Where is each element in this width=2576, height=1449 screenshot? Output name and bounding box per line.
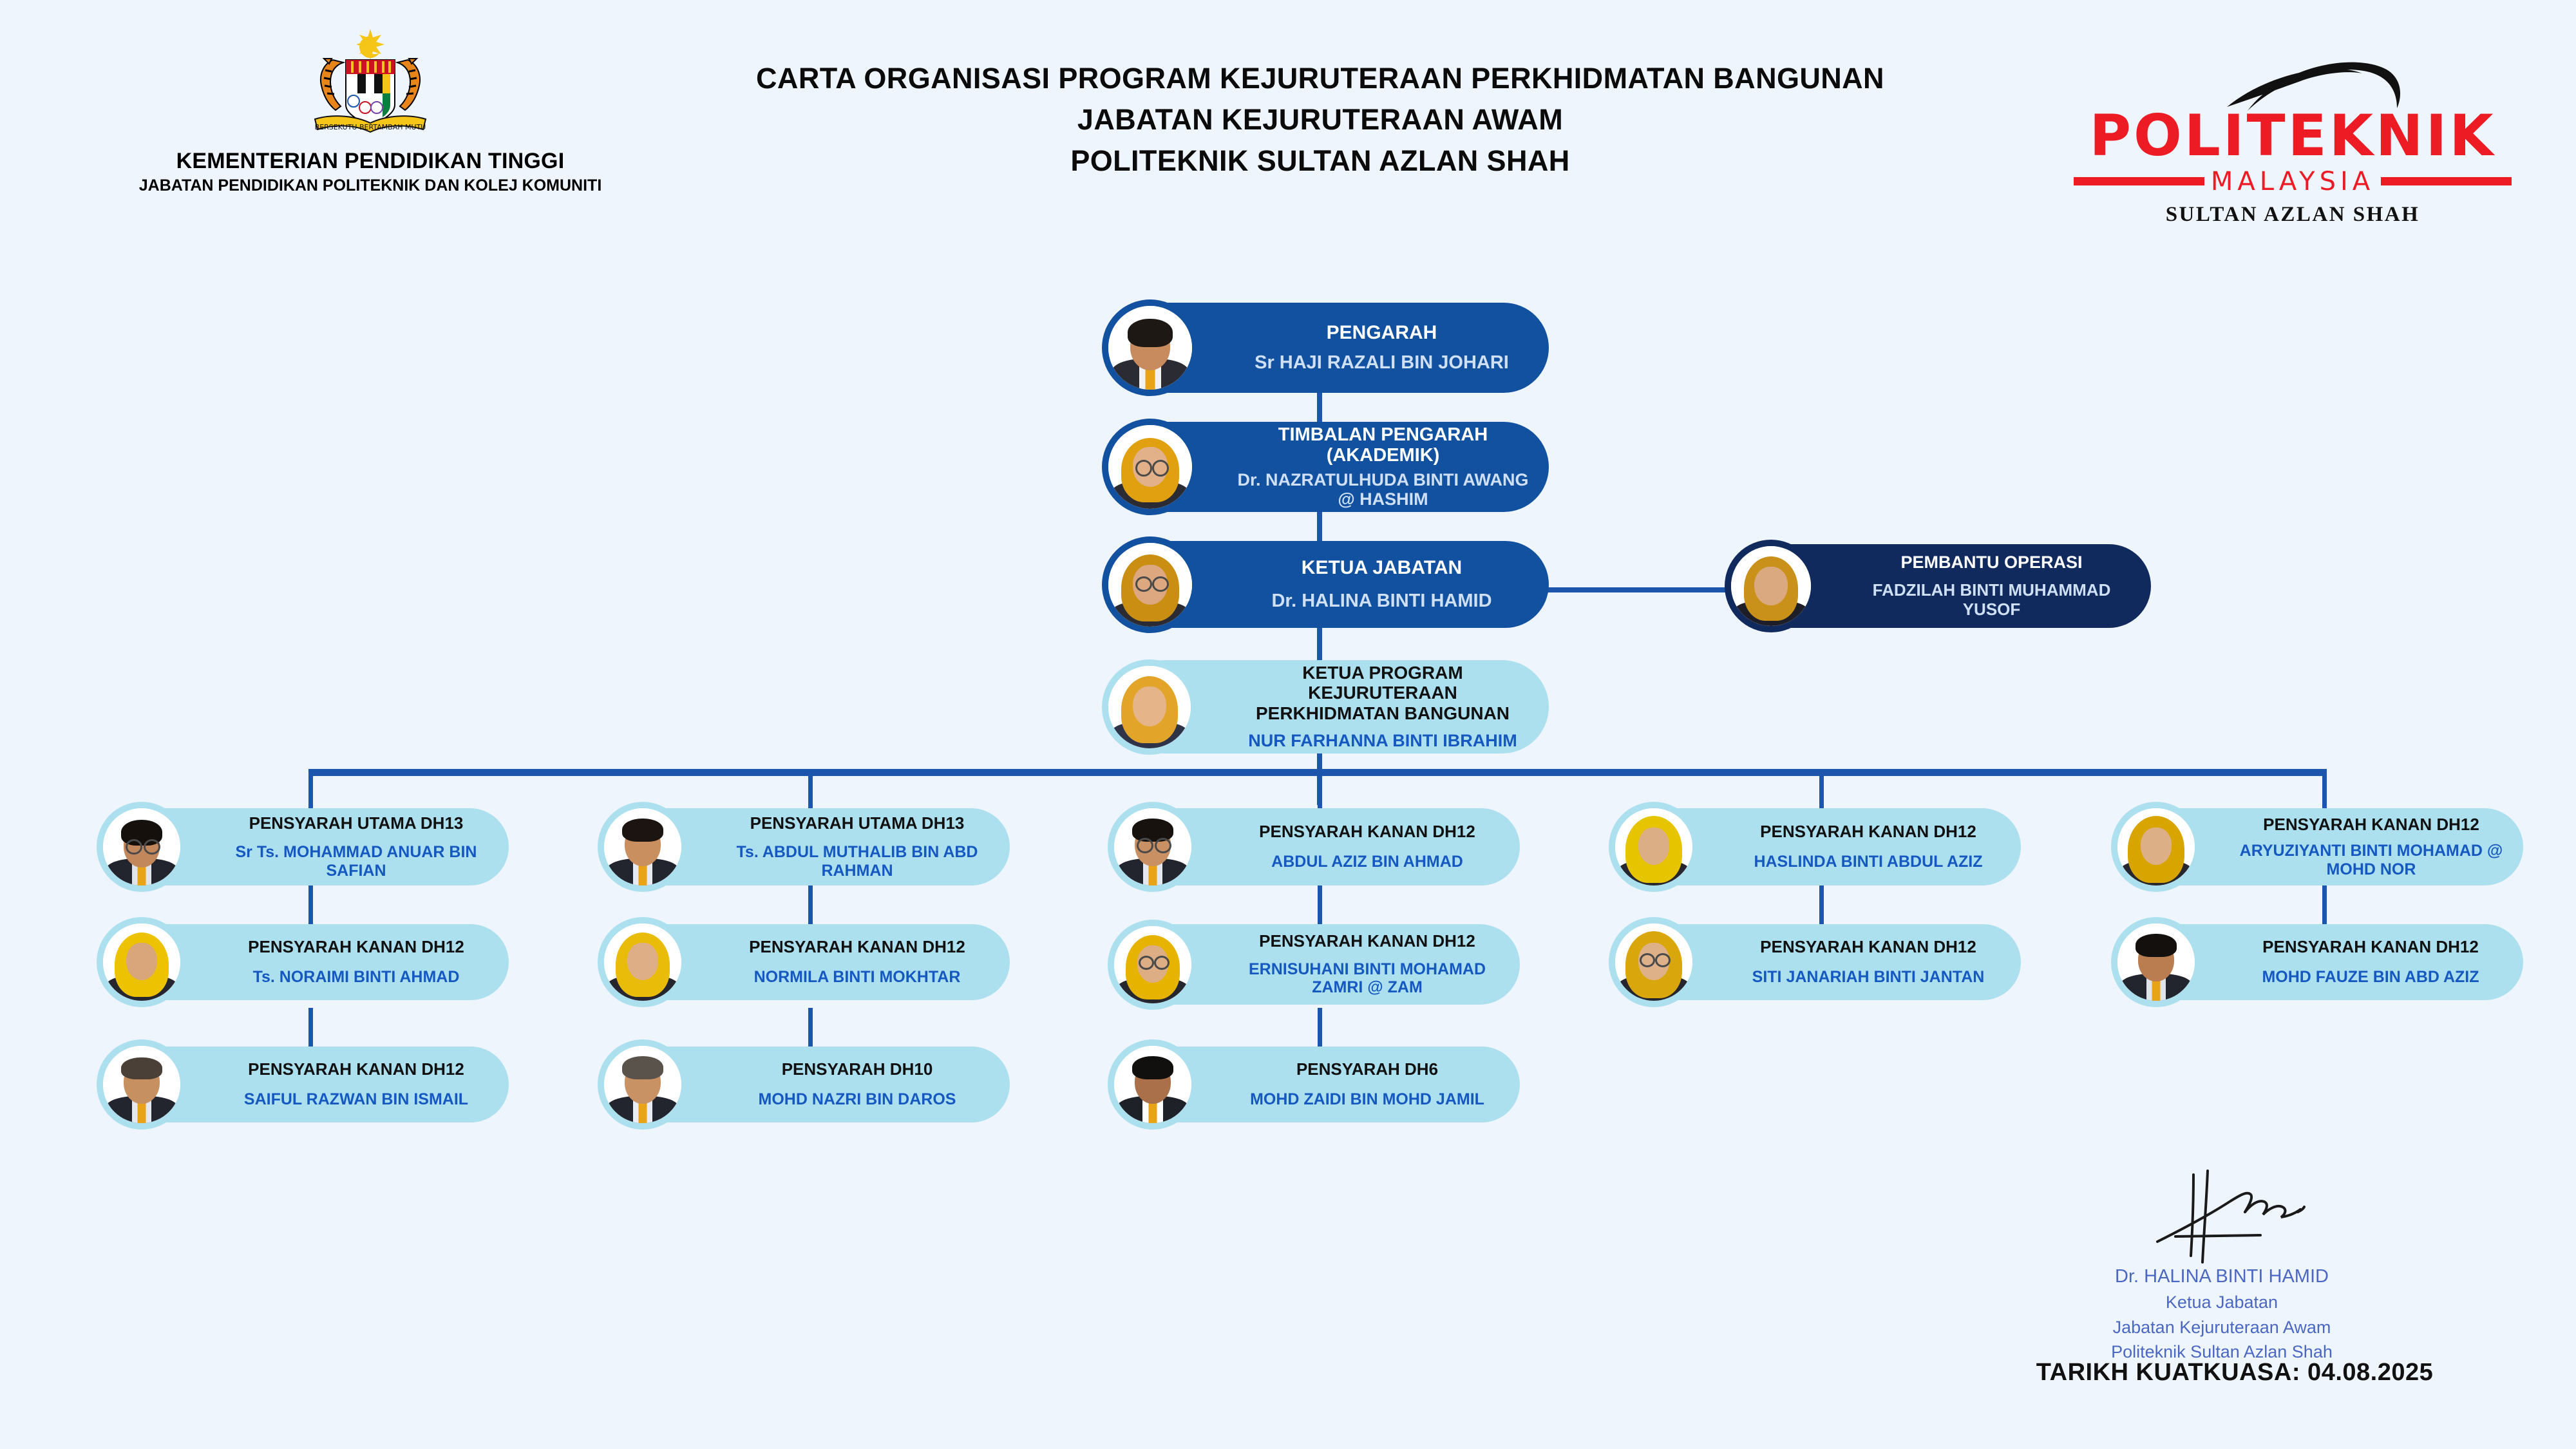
ministry-line-1: KEMENTERIAN PENDIDIKAN TINGGI (138, 149, 602, 174)
handwritten-signature-icon (2132, 1166, 2325, 1272)
node-name: Dr. NAZRATULHUDA BINTI AWANG @ HASHIM (1235, 470, 1531, 510)
card-col5-row1[interactable]: PENSYARAH KANAN DH12 ARYUZIYANTI BINTI M… (2124, 808, 2523, 885)
card-role: PENSYARAH UTAMA DH13 (249, 814, 464, 833)
avatar (1114, 808, 1191, 885)
logo-malaysia-row: MALAYSIA (2074, 167, 2512, 196)
politeknik-logo: POLITEKNIK MALAYSIA SULTAN AZLAN SHAH (2074, 52, 2512, 227)
card-role: PENSYARAH KANAN DH12 (248, 1060, 464, 1079)
connector-col5-a (2322, 885, 2327, 924)
node-name: Dr. HALINA BINTI HAMID (1271, 591, 1492, 612)
avatar (1108, 306, 1192, 390)
title-line-3: POLITEKNIK SULTAN AZLAN SHAH (580, 140, 2061, 182)
avatar (103, 808, 180, 885)
avatar (604, 1046, 681, 1123)
avatar (1108, 543, 1192, 627)
node-role-line-1: TIMBALAN PENGARAH (1278, 424, 1488, 445)
connector-col2-a (808, 885, 813, 924)
card-col3-row1[interactable]: PENSYARAH KANAN DH12 ABDUL AZIZ BIN AHMA… (1121, 808, 1520, 885)
page-title: CARTA ORGANISASI PROGRAM KEJURUTERAAN PE… (580, 58, 2061, 182)
title-line-2: JABATAN KEJURUTERAAN AWAM (580, 99, 2061, 140)
avatar (604, 923, 681, 1001)
card-role: PENSYARAH KANAN DH12 (1259, 932, 1475, 951)
avatar (2117, 923, 2195, 1001)
signature-role: Ketua Jabatan (2016, 1290, 2428, 1314)
avatar (604, 808, 681, 885)
card-col3-row2[interactable]: PENSYARAH KANAN DH12 ERNISUHANI BINTI MO… (1121, 924, 1520, 1005)
avatar (1114, 926, 1191, 1003)
card-name: MOHD NAZRI BIN DAROS (759, 1090, 956, 1109)
card-name: MOHD ZAIDI BIN MOHD JAMIL (1250, 1090, 1484, 1109)
card-name: ERNISUHANI BINTI MOHAMAD ZAMRI @ ZAM (1229, 960, 1506, 997)
card-role: PENSYARAH KANAN DH12 (2262, 938, 2479, 956)
avatar (1108, 425, 1192, 509)
connector-ketua-to-pembantu (1546, 587, 1739, 592)
connector-col1-b (308, 1008, 313, 1046)
card-col1-row1[interactable]: PENSYARAH UTAMA DH13 Sr Ts. MOHAMMAD ANU… (109, 808, 509, 885)
logo-word: POLITEKNIK (2074, 109, 2512, 163)
avatar (103, 923, 180, 1001)
card-role: PENSYARAH DH10 (782, 1060, 933, 1079)
avatar (1731, 546, 1811, 626)
connector-drop-col-2 (808, 769, 813, 811)
connector-col3-a (1318, 885, 1322, 924)
node-role-line-2: (AKADEMIK) (1327, 445, 1440, 466)
effective-date: TARIKH KUATKUASA: 04.08.2025 (2009, 1359, 2460, 1387)
card-col4-row1[interactable]: PENSYARAH KANAN DH12 HASLINDA BINTI ABDU… (1622, 808, 2021, 885)
card-role: PENSYARAH KANAN DH12 (1259, 822, 1475, 841)
node-role: PENGARAH (1327, 322, 1437, 344)
card-name: Ts. ABDUL MUTHALIB BIN ABD RAHMAN (714, 843, 1001, 880)
node-pengarah[interactable]: PENGARAH Sr HAJI RAZALI BIN JOHARI (1117, 303, 1549, 393)
avatar (1114, 1046, 1191, 1123)
card-col1-row2[interactable]: PENSYARAH KANAN DH12 Ts. NORAIMI BINTI A… (109, 924, 509, 1000)
card-name: NORMILA BINTI MOKHTAR (754, 968, 961, 987)
card-col5-row2[interactable]: PENSYARAH KANAN DH12 MOHD FAUZE BIN ABD … (2124, 924, 2523, 1000)
node-name: FADZILAH BINTI MUHAMMAD YUSOF (1850, 581, 2134, 619)
node-role: PEMBANTU OPERASI (1900, 553, 2082, 572)
avatar (1615, 808, 1692, 885)
card-role: PENSYARAH UTAMA DH13 (750, 814, 965, 833)
connector-drop-col-3 (1318, 769, 1322, 811)
card-col3-row3[interactable]: PENSYARAH DH6 MOHD ZAIDI BIN MOHD JAMIL (1121, 1046, 1520, 1122)
node-timbalan-pengarah[interactable]: TIMBALAN PENGARAH (AKADEMIK) Dr. NAZRATU… (1117, 422, 1549, 512)
card-role: PENSYARAH KANAN DH12 (749, 938, 965, 956)
card-name: Sr Ts. MOHAMMAD ANUAR BIN SAFIAN (213, 843, 500, 880)
connector-col4-a (1819, 885, 1824, 924)
connector-drop-col-5 (2322, 769, 2327, 811)
connector-timbalan-to-ketua (1317, 509, 1322, 541)
avatar (103, 1046, 180, 1123)
connector-col3-b (1318, 1008, 1322, 1046)
node-pembantu-operasi[interactable]: PEMBANTU OPERASI FADZILAH BINTI MUHAMMAD… (1739, 544, 2151, 628)
avatar (2117, 808, 2195, 885)
node-name: NUR FARHANNA BINTI IBRAHIM (1248, 731, 1517, 751)
node-name: Sr HAJI RAZALI BIN JOHARI (1255, 352, 1509, 374)
card-name: SITI JANARIAH BINTI JANTAN (1752, 968, 1985, 987)
ministry-block: BERSEKUTU BERTAMBAH MUTU KEMENTERIAN PEN… (138, 29, 602, 195)
node-ketua-jabatan[interactable]: KETUA JABATAN Dr. HALINA BINTI HAMID (1117, 541, 1549, 628)
org-chart-canvas: BERSEKUTU BERTAMBAH MUTU KEMENTERIAN PEN… (0, 0, 2576, 1449)
card-name: ARYUZIYANTI BINTI MOHAMAD @ MOHD NOR (2230, 842, 2513, 878)
card-name: HASLINDA BINTI ABDUL AZIZ (1754, 853, 1982, 871)
title-line-1: CARTA ORGANISASI PROGRAM KEJURUTERAAN PE… (580, 58, 2061, 99)
card-role: PENSYARAH KANAN DH12 (1760, 822, 1976, 841)
avatar (1108, 666, 1191, 748)
header: BERSEKUTU BERTAMBAH MUTU KEMENTERIAN PEN… (0, 0, 2576, 238)
node-ketua-program[interactable]: KETUA PROGRAM KEJURUTERAAN PERKHIDMATAN … (1117, 660, 1549, 753)
node-role: KETUA JABATAN (1302, 557, 1462, 579)
logo-bar-right (2381, 177, 2512, 185)
svg-text:BERSEKUTU BERTAMBAH MUTU: BERSEKUTU BERTAMBAH MUTU (315, 123, 426, 131)
logo-country: MALAYSIA (2211, 167, 2374, 196)
signature-block: Dr. HALINA BINTI HAMID Ketua Jabatan Jab… (2016, 1204, 2428, 1364)
ministry-line-2: JABATAN PENDIDIKAN POLITEKNIK DAN KOLEJ … (138, 176, 602, 195)
signature-department: Jabatan Kejuruteraan Awam (2016, 1315, 2428, 1340)
card-name: Ts. NORAIMI BINTI AHMAD (253, 968, 460, 987)
card-role: PENSYARAH KANAN DH12 (2263, 815, 2479, 834)
logo-bar-left (2074, 177, 2204, 185)
card-role: PENSYARAH KANAN DH12 (248, 938, 464, 956)
card-role: PENSYARAH KANAN DH12 (1760, 938, 1976, 956)
logo-campus: SULTAN AZLAN SHAH (2074, 203, 2512, 227)
connector-col2-b (808, 1008, 813, 1046)
connector-drop-col-1 (308, 769, 313, 811)
card-name: MOHD FAUZE BIN ABD AZIZ (2262, 968, 2479, 987)
card-role: PENSYARAH DH6 (1296, 1060, 1438, 1079)
card-col4-row2[interactable]: PENSYARAH KANAN DH12 SITI JANARIAH BINTI… (1622, 924, 2021, 1000)
connector-drop-col-4 (1819, 769, 1824, 811)
avatar (1615, 923, 1692, 1001)
card-name: ABDUL AZIZ BIN AHMAD (1271, 853, 1463, 871)
connector-col1-a (308, 885, 313, 924)
card-col1-row3[interactable]: PENSYARAH KANAN DH12 SAIFUL RAZWAN BIN I… (109, 1046, 509, 1122)
node-role-line-1: KETUA PROGRAM KEJURUTERAAN (1227, 663, 1539, 703)
card-col2-row3[interactable]: PENSYARAH DH10 MOHD NAZRI BIN DAROS (611, 1046, 1010, 1122)
card-name: SAIFUL RAZWAN BIN ISMAIL (244, 1090, 468, 1109)
malaysia-coat-of-arms-icon: BERSEKUTU BERTAMBAH MUTU (138, 29, 602, 145)
card-col2-row2[interactable]: PENSYARAH KANAN DH12 NORMILA BINTI MOKHT… (611, 924, 1010, 1000)
signature-name: Dr. HALINA BINTI HAMID (2016, 1264, 2428, 1290)
node-role-line-2: PERKHIDMATAN BANGUNAN (1256, 703, 1510, 723)
card-col2-row1[interactable]: PENSYARAH UTAMA DH13 Ts. ABDUL MUTHALIB … (611, 808, 1010, 885)
